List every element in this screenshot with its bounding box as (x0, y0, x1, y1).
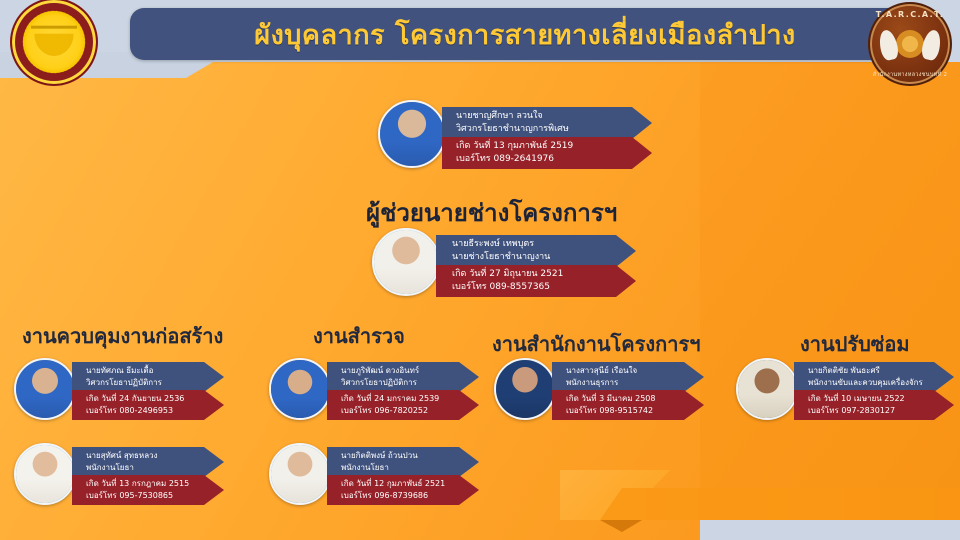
person-detail-banner: เกิด วันที่ 3 มีนาคม 2508 เบอร์โทร 098-9… (552, 390, 704, 420)
organization-chart-poster: ผังบุคลากร โครงการสายทางเลี่ยงเมืองลำปาง… (0, 0, 960, 540)
person-name-banner: นายทัศภณ ธีมะเตื้อ วิศวกรโยธาปฏิบัติการ (72, 362, 224, 392)
avatar-photo (271, 360, 329, 418)
person-name: นายชาญศึกษา ลวนใจ (456, 110, 626, 123)
person-card-construction-2: นายสุทัศน์ สุทธหลวง พนักงานโยธา เกิด วัน… (14, 443, 239, 509)
person-position: นายช่างโยธาชำนาญงาน (452, 251, 610, 264)
person-phone: เบอร์โทร 096-8739686 (341, 490, 453, 502)
avatar (269, 443, 331, 505)
person-name: นายสุทัศน์ สุทธหลวง (86, 450, 198, 462)
person-card-chief: นายชาญศึกษา ลวนใจ วิศวกรโยธาชำนาญการพิเศ… (378, 100, 668, 172)
person-position: วิศวกรโยธาปฏิบัติการ (341, 377, 453, 389)
person-card-repair-1: นายกิตติชัย พันธะศรี พนักงานขับและควบคุม… (736, 358, 960, 424)
person-name-banner: นายชาญศึกษา ลวนใจ วิศวกรโยธาชำนาญการพิเศ… (442, 107, 652, 139)
person-card-survey-2: นายกิตติพงษ์ ถ้วนปวน พนักงานโยธา เกิด วั… (269, 443, 494, 509)
person-position: พนักงานขับและควบคุมเครื่องจักร (808, 377, 928, 389)
person-detail-banner: เกิด วันที่ 13 กุมภาพันธ์ 2519 เบอร์โทร … (442, 137, 652, 169)
person-birth: เกิด วันที่ 13 กรกฎาคม 2515 (86, 478, 198, 490)
person-detail-banner: เกิด วันที่ 24 มกราคม 2539 เบอร์โทร 096-… (327, 390, 479, 420)
avatar-photo (374, 230, 438, 294)
person-position: พนักงานธุรการ (566, 377, 678, 389)
person-birth: เกิด วันที่ 27 มิถุนายน 2521 (452, 268, 610, 281)
person-card-assistant: นายธีระพงษ์ เทพบุตร นายช่างโยธาชำนาญงาน … (372, 228, 662, 300)
avatar (372, 228, 440, 296)
person-card-office-1: นางสาวสุนีย์ เรือนใจ พนักงานธุรการ เกิด … (494, 358, 719, 424)
avatar-photo (271, 445, 329, 503)
person-birth: เกิด วันที่ 24 กันยายน 2536 (86, 393, 198, 405)
person-birth: เกิด วันที่ 12 กุมภาพันธ์ 2521 (341, 478, 453, 490)
person-position: พนักงานโยธา (86, 462, 198, 474)
person-name: นายภูริพัฒน์ ดวงอินทร์ (341, 365, 453, 377)
person-detail-banner: เกิด วันที่ 27 มิถุนายน 2521 เบอร์โทร 08… (436, 265, 636, 297)
person-phone: เบอร์โทร 080-2496953 (86, 405, 198, 417)
person-phone: เบอร์โทร 089-8557365 (452, 281, 610, 294)
department-seal-icon (10, 0, 98, 86)
group-heading-construction: งานควบคุมงานก่อสร้าง (22, 320, 223, 352)
person-name-banner: นายสุทัศน์ สุทธหลวง พนักงานโยธา (72, 447, 224, 477)
person-phone: เบอร์โทร 095-7530865 (86, 490, 198, 502)
kangaroo-left-icon (877, 29, 900, 62)
person-name: นางสาวสุนีย์ เรือนใจ (566, 365, 678, 377)
person-position: วิศวกรโยธาชำนาญการพิเศษ (456, 123, 626, 136)
person-name: นายกิตติชัย พันธะศรี (808, 365, 928, 377)
tarcat-emblem-sublabel: สำนักงานทางหลวงชนบทที่ 2 (870, 71, 950, 79)
person-phone: เบอร์โทร 089-2641976 (456, 153, 626, 166)
person-detail-banner: เกิด วันที่ 24 กันยายน 2536 เบอร์โทร 080… (72, 390, 224, 420)
avatar (14, 358, 76, 420)
avatar-photo (738, 360, 796, 418)
person-name-banner: นายภูริพัฒน์ ดวงอินทร์ วิศวกรโยธาปฏิบัติ… (327, 362, 479, 392)
person-card-construction-1: นายทัศภณ ธีมะเตื้อ วิศวกรโยธาปฏิบัติการ … (14, 358, 239, 424)
avatar (494, 358, 556, 420)
person-name-banner: นางสาวสุนีย์ เรือนใจ พนักงานธุรการ (552, 362, 704, 392)
person-position: พนักงานโยธา (341, 462, 453, 474)
person-name-banner: นายธีระพงษ์ เทพบุตร นายช่างโยธาชำนาญงาน (436, 235, 636, 267)
person-birth: เกิด วันที่ 13 กุมภาพันธ์ 2519 (456, 140, 626, 153)
title-bar: ผังบุคลากร โครงการสายทางเลี่ยงเมืองลำปาง (130, 8, 920, 60)
person-detail-banner: เกิด วันที่ 12 กุมภาพันธ์ 2521 เบอร์โทร … (327, 475, 479, 505)
person-birth: เกิด วันที่ 10 เมษายน 2522 (808, 393, 928, 405)
person-name: นายธีระพงษ์ เทพบุตร (452, 238, 610, 251)
avatar (269, 358, 331, 420)
tarcat-emblem-label: T.A.R.C.A.T. (870, 10, 950, 19)
ribbon-band (600, 488, 960, 520)
avatar-photo (496, 360, 554, 418)
person-detail-banner: เกิด วันที่ 13 กรกฎาคม 2515 เบอร์โทร 095… (72, 475, 224, 505)
group-heading-office: งานสำนักงานโครงการฯ (492, 328, 701, 360)
avatar (736, 358, 798, 420)
avatar-photo (16, 360, 74, 418)
person-birth: เกิด วันที่ 24 มกราคม 2539 (341, 393, 453, 405)
person-phone: เบอร์โทร 096-7820252 (341, 405, 453, 417)
avatar (14, 443, 76, 505)
person-phone: เบอร์โทร 098-9515742 (566, 405, 678, 417)
person-birth: เกิด วันที่ 3 มีนาคม 2508 (566, 393, 678, 405)
person-phone: เบอร์โทร 097-2830127 (808, 405, 928, 417)
person-detail-banner: เกิด วันที่ 10 เมษายน 2522 เบอร์โทร 097-… (794, 390, 954, 420)
person-position: วิศวกรโยธาปฏิบัติการ (86, 377, 198, 389)
person-name-banner: นายกิตติพงษ์ ถ้วนปวน พนักงานโยธา (327, 447, 479, 477)
person-name-banner: นายกิตติชัย พันธะศรี พนักงานขับและควบคุม… (794, 362, 954, 392)
tarcat-emblem-icon: T.A.R.C.A.T. สำนักงานทางหลวงชนบทที่ 2 (868, 2, 952, 86)
group-heading-survey: งานสำรวจ (313, 320, 405, 352)
bottom-ribbon-decoration (560, 470, 960, 540)
person-name: นายทัศภณ ธีมะเตื้อ (86, 365, 198, 377)
avatar-photo (380, 102, 444, 166)
person-card-survey-1: นายภูริพัฒน์ ดวงอินทร์ วิศวกรโยธาปฏิบัติ… (269, 358, 494, 424)
avatar (378, 100, 446, 168)
ribbon-fold (600, 520, 642, 532)
page-title: ผังบุคลากร โครงการสายทางเลี่ยงเมืองลำปาง (254, 13, 795, 56)
assistant-section-heading: ผู้ช่วยนายช่างโครงการฯ (366, 193, 617, 232)
avatar-photo (16, 445, 74, 503)
kangaroo-right-icon (920, 29, 943, 62)
group-heading-repair: งานปรับซ่อม (800, 328, 910, 360)
person-name: นายกิตติพงษ์ ถ้วนปวน (341, 450, 453, 462)
